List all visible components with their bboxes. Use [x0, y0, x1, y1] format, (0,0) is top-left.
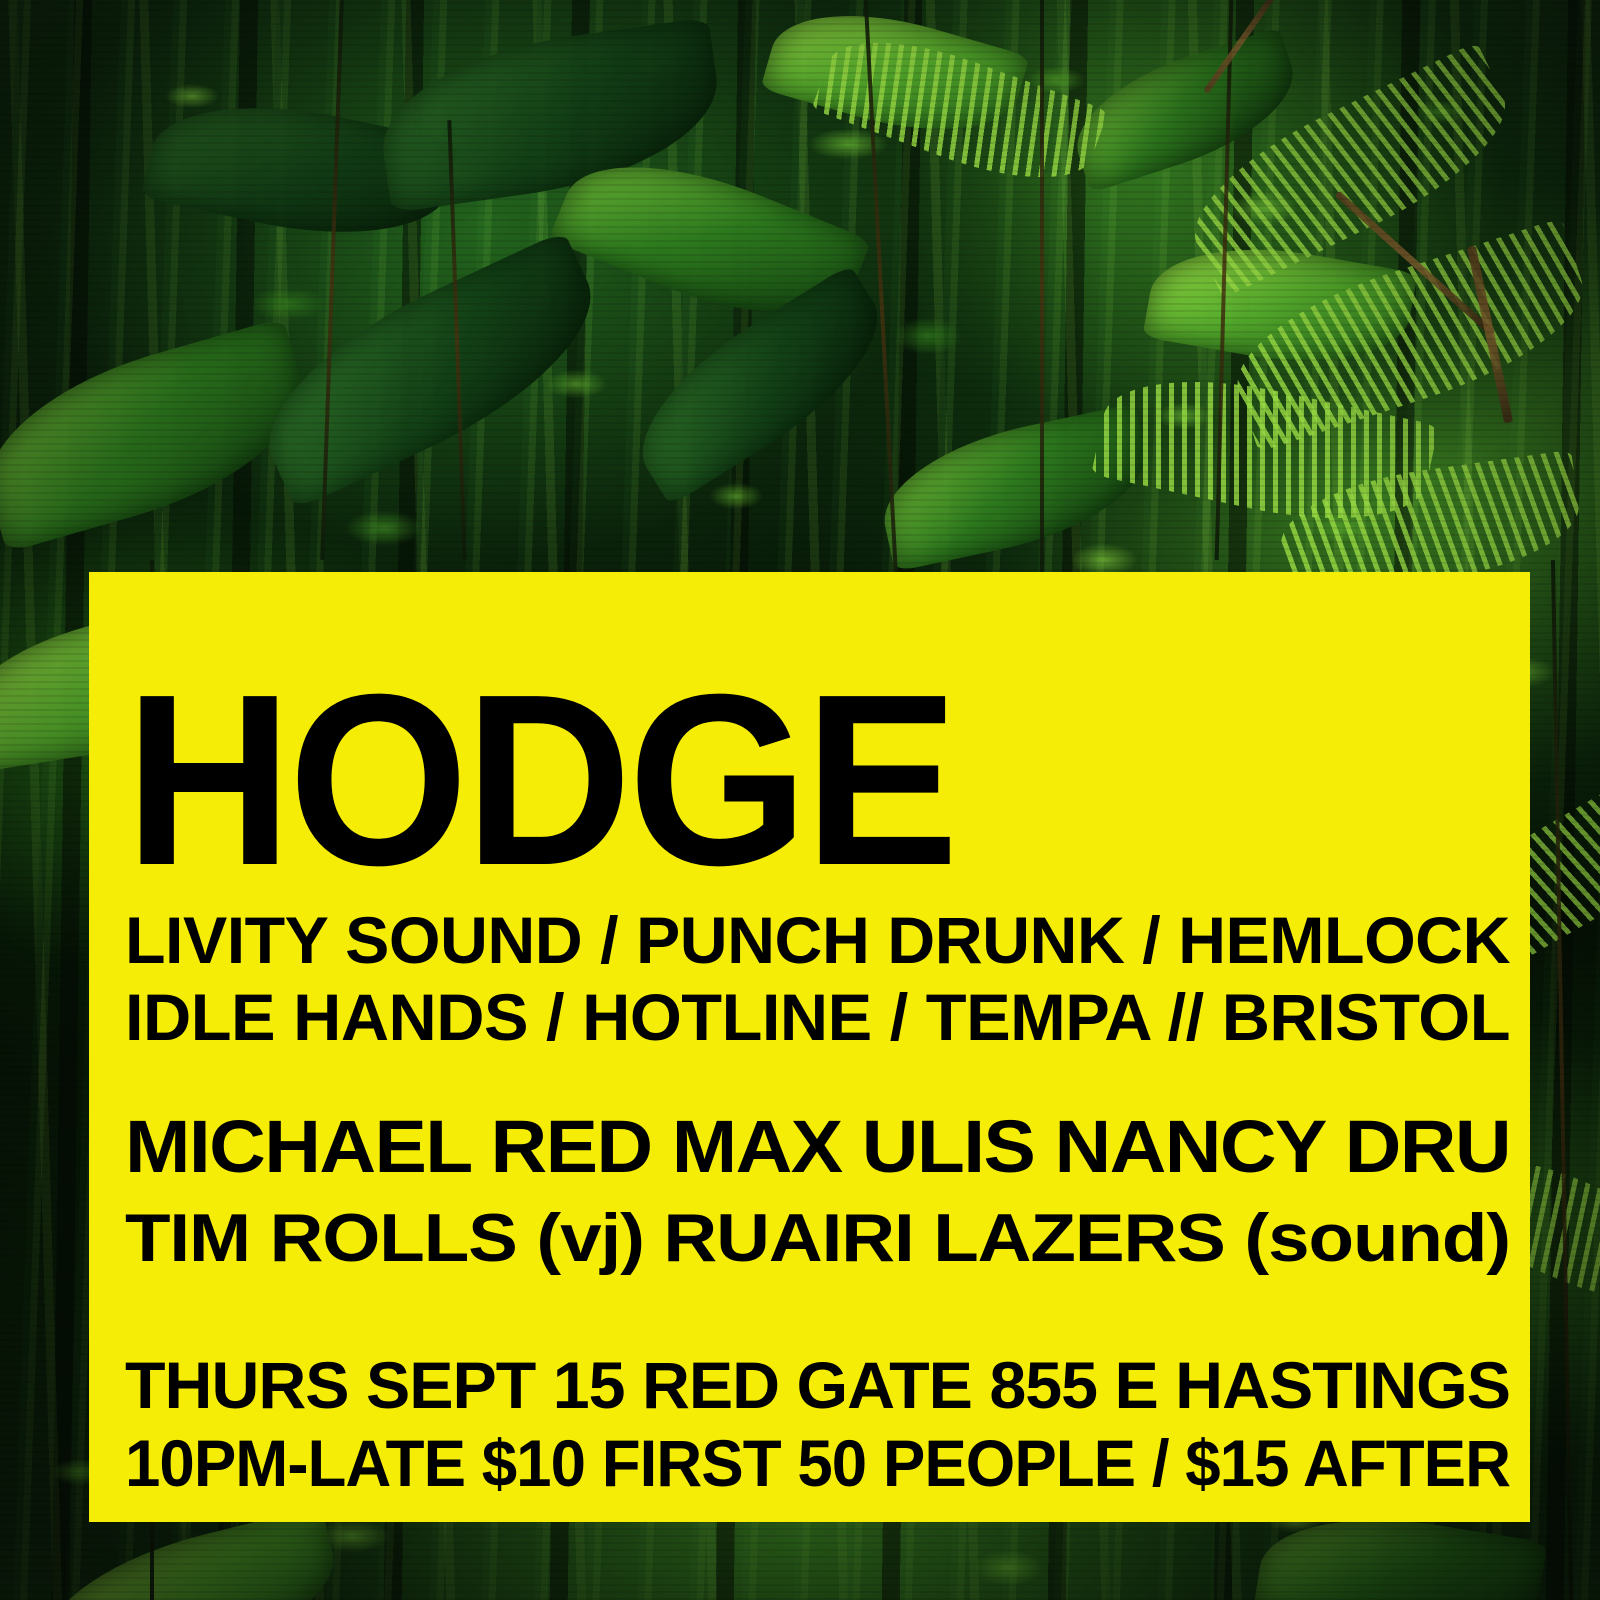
event-date-venue-line: THURS SEPT 15 RED GATE 855 E HASTINGS: [125, 1352, 1510, 1418]
hanging-vine: [1040, 0, 1044, 580]
panel-content: HODGE LIVITY SOUND / PUNCH DRUNK / HEMLO…: [125, 572, 1530, 1522]
poster-canvas: HODGE LIVITY SOUND / PUNCH DRUNK / HEMLO…: [0, 0, 1600, 1600]
label-line-1: LIVITY SOUND / PUNCH DRUNK / HEMLOCK: [125, 907, 1510, 973]
headline-artist-name: HODGE: [125, 690, 955, 871]
label-line-2: IDLE HANDS / HOTLINE / TEMPA // BRISTOL: [125, 984, 1510, 1050]
event-time-price-line: 10PM-LATE $10 FIRST 50 PEOPLE / $15 AFTE…: [125, 1430, 1510, 1496]
support-artists-line-1: MICHAEL RED MAX ULIS NANCY DRU: [125, 1110, 1510, 1184]
support-artists-line-2: TIM ROLLS (vj) RUAIRI LAZERS (sound): [125, 1204, 1510, 1272]
hanging-vine: [1551, 560, 1573, 1600]
yellow-info-panel: HODGE LIVITY SOUND / PUNCH DRUNK / HEMLO…: [89, 572, 1530, 1522]
